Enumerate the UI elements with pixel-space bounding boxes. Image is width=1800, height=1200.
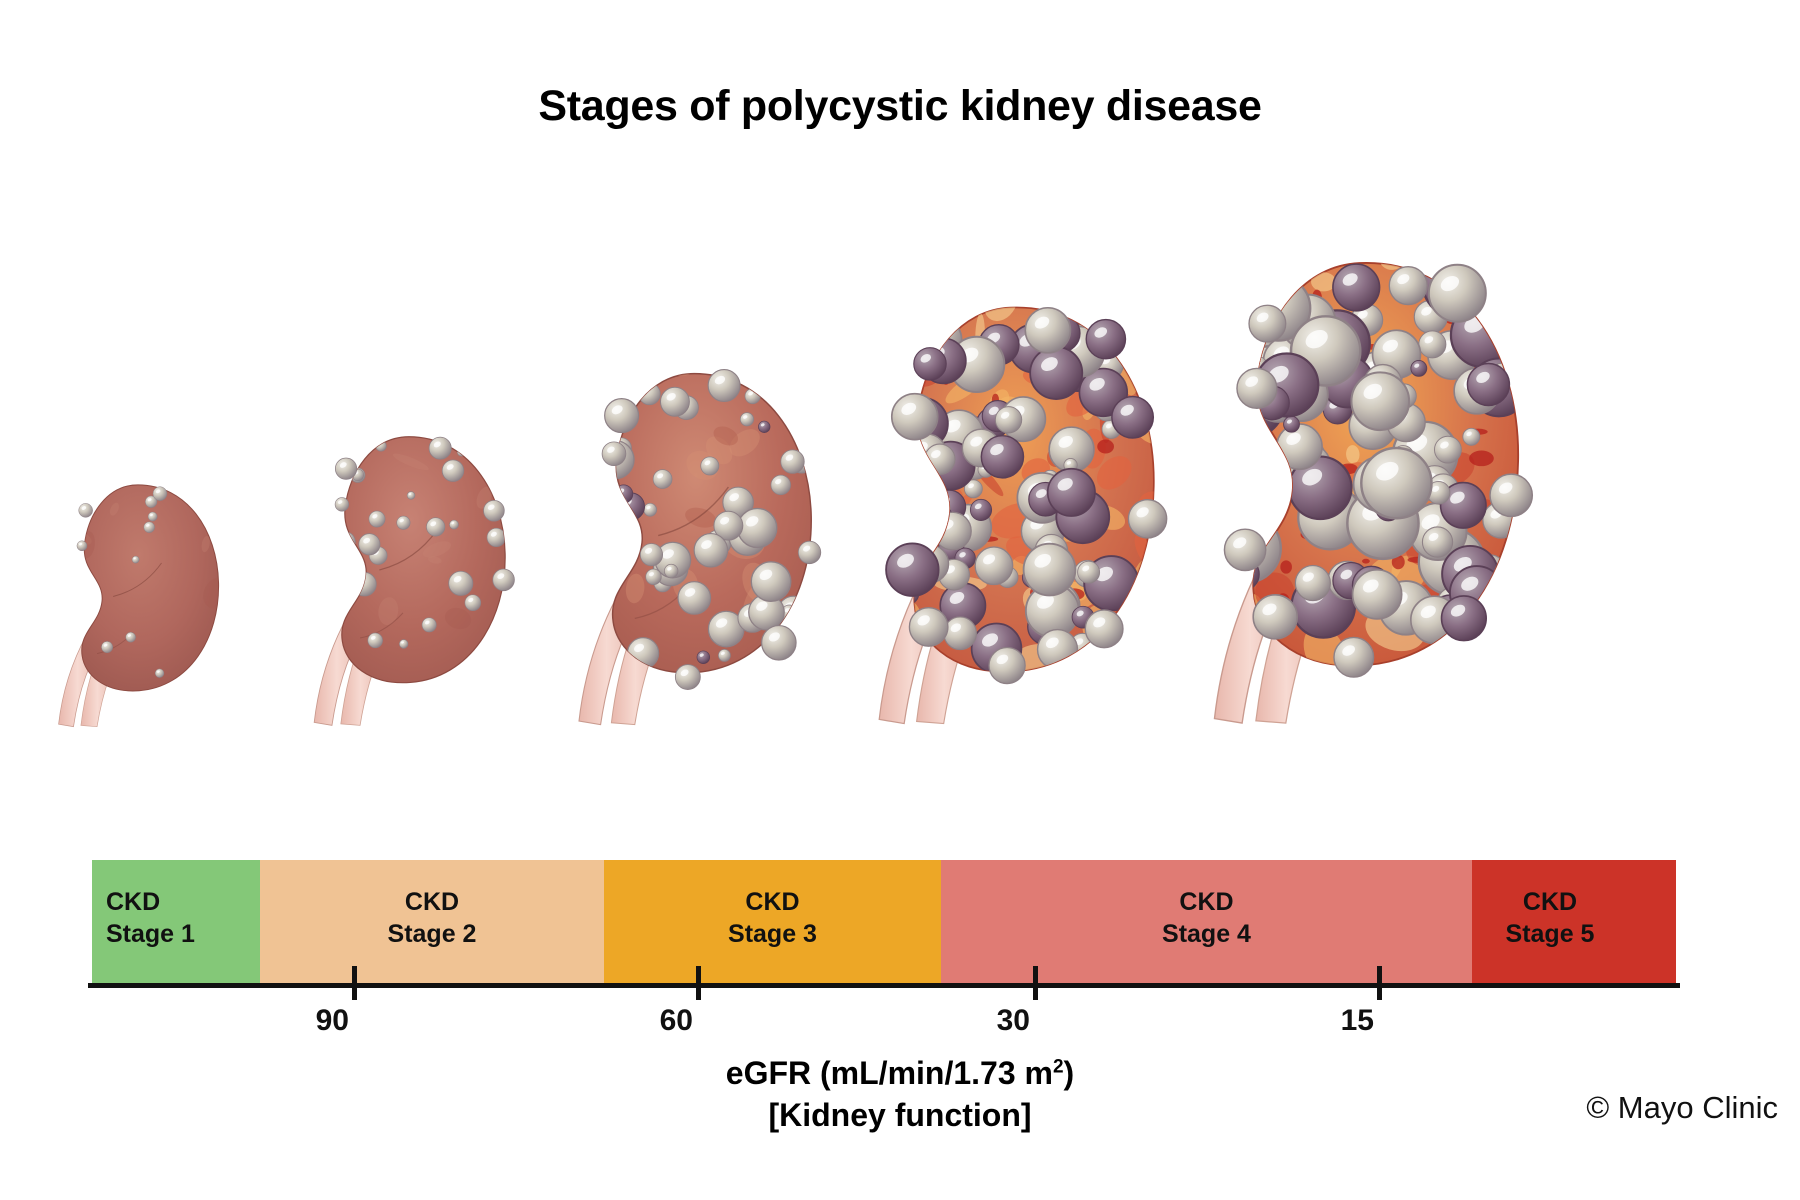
axis-title-line2: [Kidney function] xyxy=(0,1094,1800,1136)
bar-segment-label-stage-3: CKD Stage 3 xyxy=(604,886,941,950)
bar-segment-label-stage-4: CKD Stage 4 xyxy=(941,886,1472,950)
kidney-stage-1 xyxy=(40,470,226,730)
axis-tick-label-15: 15 xyxy=(1341,1004,1381,1038)
kidney-stage-3 xyxy=(552,352,822,730)
kidney-stage-5 xyxy=(1180,247,1525,730)
axis-tick-60 xyxy=(696,966,701,1000)
bar-segment-stage-4[interactable]: CKD Stage 4 xyxy=(941,860,1472,985)
axis-tick-label-60: 60 xyxy=(660,1004,700,1038)
bar-segment-label-stage-2: CKD Stage 2 xyxy=(260,886,604,950)
axis-tick-90 xyxy=(352,966,357,1000)
bar-segment-label-stage-1: CKD Stage 1 xyxy=(106,886,195,950)
axis-title-units: eGFR (mL/min/1.73 m xyxy=(726,1055,1053,1091)
bar-segment-stage-5[interactable]: CKD Stage 5 xyxy=(1472,860,1676,985)
ckd-stage-bar: CKD Stage 1CKD Stage 2CKD Stage 3CKD Sta… xyxy=(92,860,1676,985)
axis-title-superscript: 2 xyxy=(1053,1056,1064,1077)
egfr-axis-line xyxy=(88,983,1680,988)
bar-segment-stage-2[interactable]: CKD Stage 2 xyxy=(260,860,604,985)
axis-title-line1: eGFR (mL/min/1.73 m2) xyxy=(0,1052,1800,1094)
axis-tick-30 xyxy=(1033,966,1038,1000)
bar-segment-stage-1[interactable]: CKD Stage 1 xyxy=(92,860,260,985)
axis-tick-15 xyxy=(1377,966,1382,1000)
bar-segment-label-stage-5: CKD Stage 5 xyxy=(1472,886,1676,950)
axis-tick-label-30: 30 xyxy=(997,1004,1037,1038)
axis-title-paren: ) xyxy=(1064,1055,1075,1091)
kidney-stage-2 xyxy=(292,419,514,730)
page-title: Stages of polycystic kidney disease xyxy=(0,82,1800,131)
copyright-notice: © Mayo Clinic xyxy=(1586,1090,1778,1126)
axis-tick-label-90: 90 xyxy=(316,1004,356,1038)
axis-title: eGFR (mL/min/1.73 m2) [Kidney function] xyxy=(0,1052,1800,1136)
bar-segment-stage-3[interactable]: CKD Stage 3 xyxy=(604,860,941,985)
kidney-stage-4 xyxy=(848,293,1160,730)
kidney-illustration-row xyxy=(0,130,1800,730)
